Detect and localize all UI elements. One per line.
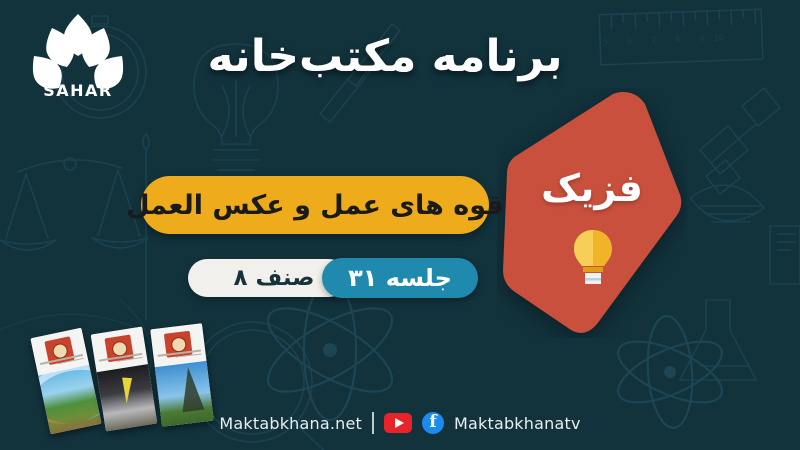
svg-text:5: 5 [603,38,608,47]
book-doodle [770,226,800,284]
microscope-doodle [690,88,780,222]
svg-text:8: 8 [675,35,680,44]
topic-banner-label: قوه های عمل و عکس العمل [126,190,504,221]
sahar-logo: SAHAR [18,8,138,100]
facebook-glyph: f [429,414,436,431]
ruler-doodle: 567 8910 [599,9,763,65]
shield-shape-svg [497,88,687,338]
footer-divider [372,412,374,434]
page-title: برنامه مکتب‌خانه [205,22,565,92]
footer: Maktabkhana.net f Maktabkhanatv [0,410,800,436]
session-badge: جلسه ۳۱ [322,258,478,298]
balance-scale-doodle [0,134,149,320]
lesson-card: 567 8910 [0,0,800,450]
grade-label: صنف ۸ [233,265,314,291]
meta-row: جلسه ۳۱ صنف ۸ [188,258,478,298]
svg-text:10: 10 [714,33,724,42]
lightbulb-icon [572,228,614,286]
social-handle[interactable]: Maktabkhanatv [454,414,581,433]
subject-shield: فزیک [497,88,687,338]
book-header [150,323,206,367]
svg-text:6: 6 [627,37,632,46]
topic-banner: قوه های عمل و عکس العمل [141,176,489,234]
facebook-icon[interactable]: f [422,412,444,434]
sahar-logo-text: SAHAR [43,81,113,100]
play-triangle-icon [395,418,404,428]
svg-text:7: 7 [651,36,656,45]
atom-orbit-doodle [256,280,403,420]
website-url[interactable]: Maktabkhana.net [219,414,362,433]
svg-text:9: 9 [699,34,704,43]
youtube-icon[interactable] [384,413,412,433]
subject-label: فزیک [497,166,687,210]
logo-petals [33,14,123,89]
session-label: جلسه ۳۱ [348,264,452,292]
